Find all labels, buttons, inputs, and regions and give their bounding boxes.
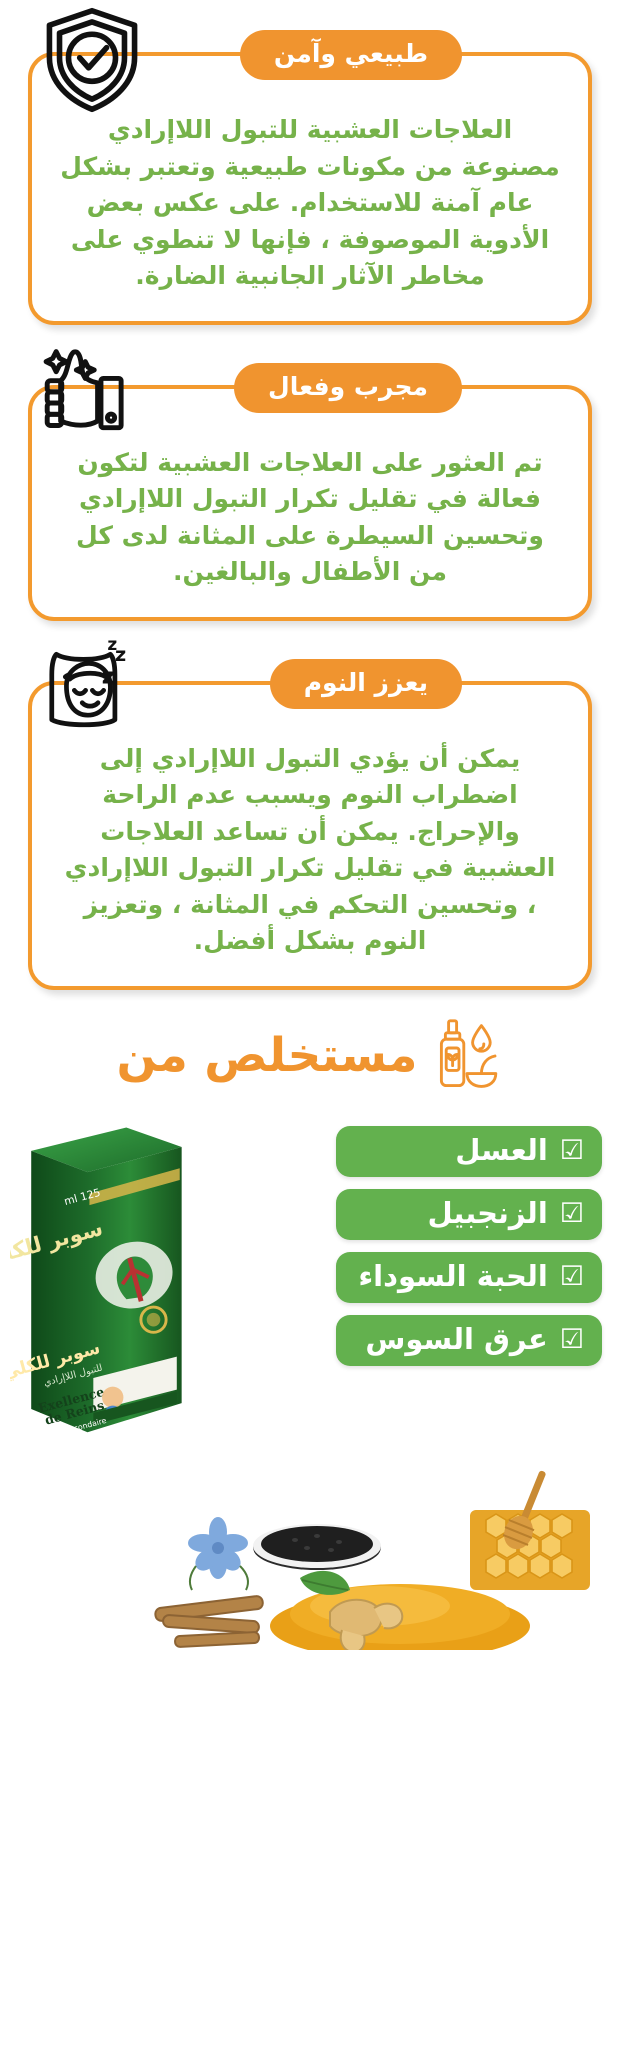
check-icon: ☑ xyxy=(560,1326,584,1353)
ingredient-label: الزنجبيل xyxy=(428,1199,548,1228)
card-title-pill-3: يعزز النوم xyxy=(270,659,462,709)
card-body-1: العلاجات العشبية للتبول اللاإرادي مصنوعة… xyxy=(58,112,562,295)
ingredient-label: عرق السوس xyxy=(365,1325,547,1354)
ingredient-item: ☑ الحبة السوداء xyxy=(336,1252,602,1303)
ingredient-item: ☑ العسل xyxy=(336,1126,602,1177)
product-box-photo: 125 ml سوبر للكلي سوبر للكلي للتبول اللا… xyxy=(10,1112,198,1442)
card-title-pill-1: طبيعي وآمن xyxy=(240,30,462,80)
feature-card-2: مجرب وفعال تم العثور على العلاجات العشبي… xyxy=(28,385,592,621)
check-icon: ☑ xyxy=(560,1137,584,1164)
ingredients-list: ☑ العسل ☑ الزنجبيل ☑ الحبة السوداء ☑ عرق… xyxy=(336,1112,602,1366)
herbal-ingredients-photo xyxy=(0,1400,620,1650)
card-body-3: يمكن أن يؤدي التبول اللاإرادي إلى اضطراب… xyxy=(58,741,562,960)
feature-card-3: z z z يعزز النوم يمكن أن يؤدي التبول الل… xyxy=(28,681,592,990)
feature-card-1: طبيعي وآمن العلاجات العشبية للتبول اللاإ… xyxy=(28,52,592,325)
svg-text:z: z xyxy=(115,643,126,666)
card-body-2: تم العثور على العلاجات العشبية لتكون فعا… xyxy=(58,445,562,591)
extracted-from-title: مستخلص من xyxy=(116,1032,417,1079)
ingredient-label: العسل xyxy=(455,1136,548,1165)
product-and-ingredients-row: ☑ العسل ☑ الزنجبيل ☑ الحبة السوداء ☑ عرق… xyxy=(0,1102,620,1442)
dropper-bottle-leaf-icon xyxy=(430,1016,504,1096)
shield-check-icon xyxy=(36,4,148,116)
svg-text:z: z xyxy=(102,663,115,689)
check-icon: ☑ xyxy=(560,1263,584,1290)
extracted-from-header: مستخلص من xyxy=(0,1016,620,1096)
thumbs-up-icon xyxy=(36,337,148,449)
ingredient-label: الحبة السوداء xyxy=(358,1262,547,1291)
check-icon: ☑ xyxy=(560,1200,584,1227)
ingredient-item: ☑ الزنجبيل xyxy=(336,1189,602,1240)
infographic-page: طبيعي وآمن العلاجات العشبية للتبول اللاإ… xyxy=(0,52,620,2048)
card-title-pill-2: مجرب وفعال xyxy=(234,363,462,413)
ingredient-item: ☑ عرق السوس xyxy=(336,1315,602,1366)
sleeping-face-icon: z z z xyxy=(36,625,160,749)
